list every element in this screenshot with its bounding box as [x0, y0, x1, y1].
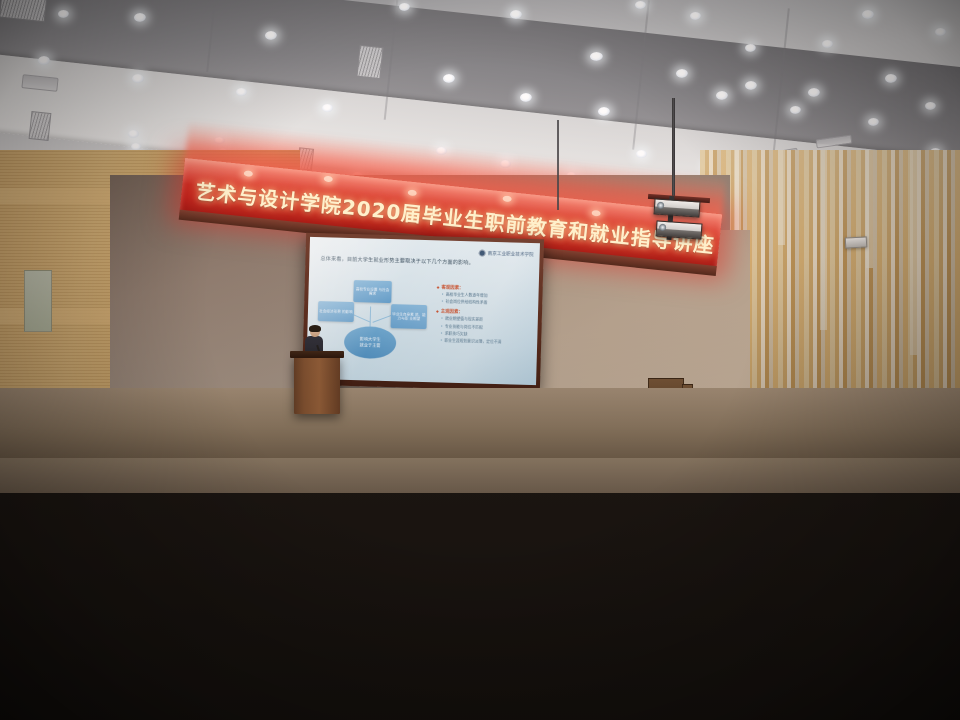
- projection-screen: 总体来看，目前大学生就业形势主要取决于以下几个方面的影响。 南京工业职业技术学院…: [306, 237, 540, 385]
- ceiling-downlight: [822, 40, 833, 48]
- ceiling-air-vent: [29, 111, 52, 141]
- seated-audience: [0, 392, 960, 720]
- ceiling-downlight: [925, 102, 936, 110]
- ceiling-downlight: [885, 74, 897, 83]
- podium-top: [290, 351, 344, 358]
- ceiling-downlight: [520, 93, 532, 102]
- projector-lens-icon: [657, 202, 664, 209]
- ceiling-downlight: [808, 88, 820, 97]
- ceiling-downlight: [443, 74, 455, 83]
- screen-glare: [306, 237, 540, 385]
- ceiling-air-vent: [356, 45, 383, 79]
- lecture-hall-photo: 艺术与设计学院2020届毕业生职前教育和就业指导讲座 总体来看，目前大学生就业形…: [0, 0, 960, 720]
- wall-access-panel: [24, 270, 52, 332]
- ceiling-downlight: [322, 104, 333, 112]
- ceiling-downlight: [134, 13, 146, 22]
- ceiling-downlight: [399, 3, 410, 11]
- ceiling-downlight: [510, 10, 522, 19]
- projector-mount-pole: [557, 120, 559, 210]
- projector-mount-pole: [672, 98, 675, 206]
- ceiling-downlight: [265, 31, 277, 40]
- ceiling-downlight: [128, 130, 139, 138]
- ceiling-downlight: [38, 56, 50, 65]
- ceiling-downlight: [690, 12, 701, 20]
- ceiling-downlight: [58, 10, 69, 18]
- ceiling-downlight: [745, 44, 756, 52]
- ceiling-downlight: [716, 91, 728, 100]
- ceiling-downlight: [868, 118, 879, 126]
- wall-speaker: [845, 236, 868, 248]
- ceiling-downlight: [676, 69, 688, 78]
- ceiling-downlight: [790, 106, 801, 114]
- ceiling-downlight: [745, 81, 757, 90]
- presenter-hair: [309, 325, 321, 332]
- ceiling-downlight: [635, 1, 646, 9]
- projector-lens-icon: [659, 224, 666, 231]
- ceiling-downlight: [131, 143, 141, 150]
- ceiling-downlight: [636, 150, 647, 158]
- ceiling-downlight: [590, 52, 603, 61]
- ceiling-downlight: [935, 28, 946, 36]
- ceiling-downlight: [598, 107, 610, 116]
- ceiling-downlight: [862, 10, 874, 19]
- ceiling-downlight: [132, 74, 144, 83]
- projector-upper: [653, 198, 700, 217]
- projector-lower: [655, 220, 702, 239]
- ceiling-downlight: [236, 88, 247, 96]
